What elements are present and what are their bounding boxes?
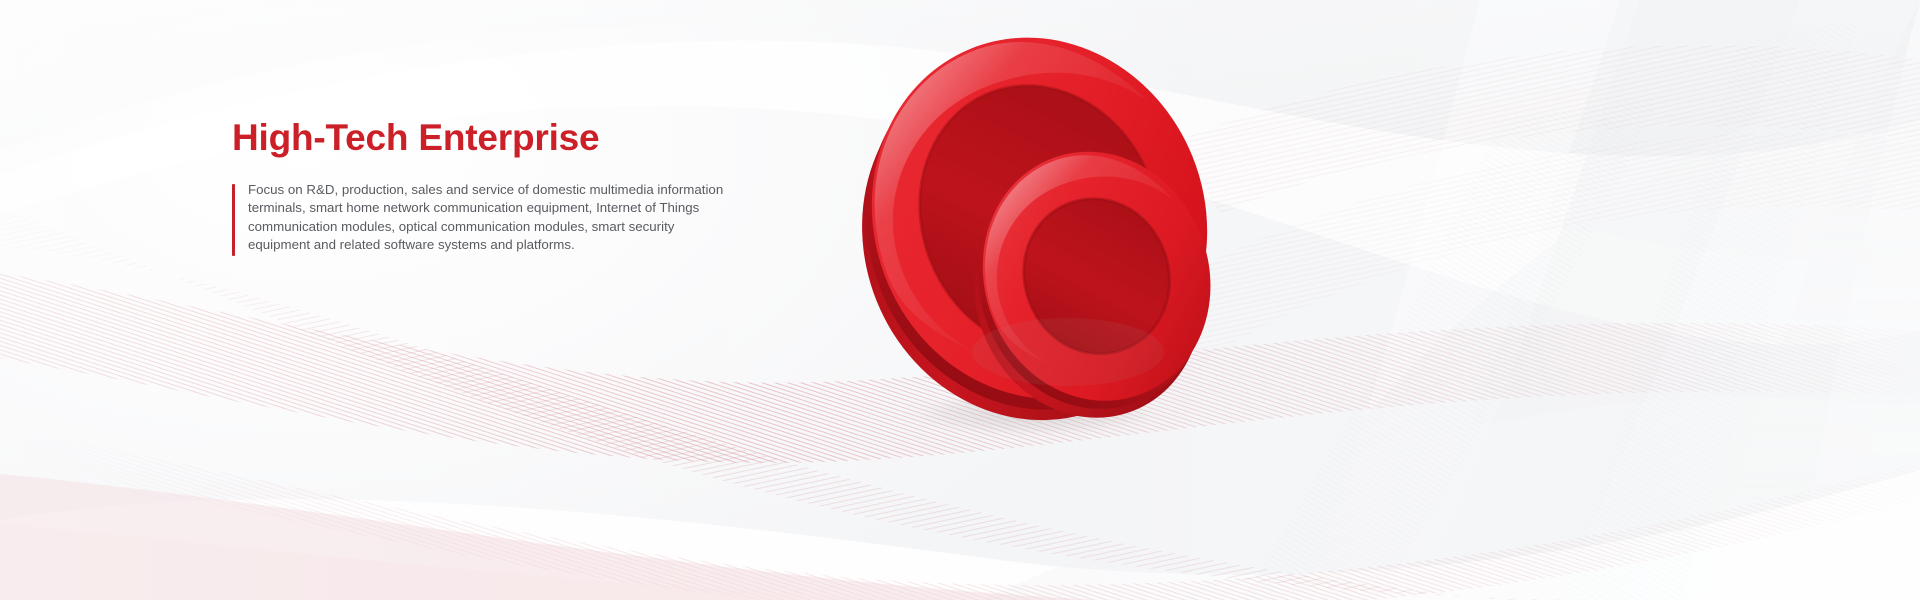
description-wrapper: Focus on R&D, production, sales and serv… <box>232 181 752 255</box>
accent-bar <box>232 184 235 256</box>
concentric-spiral-rings-logo <box>836 22 1276 442</box>
logo-svg <box>836 22 1276 442</box>
hero-text-block: High-Tech Enterprise Focus on R&D, produ… <box>232 118 752 255</box>
hero-banner: High-Tech Enterprise Focus on R&D, produ… <box>0 0 1920 600</box>
description-text: Focus on R&D, production, sales and serv… <box>248 181 726 255</box>
page-title: High-Tech Enterprise <box>232 118 752 159</box>
